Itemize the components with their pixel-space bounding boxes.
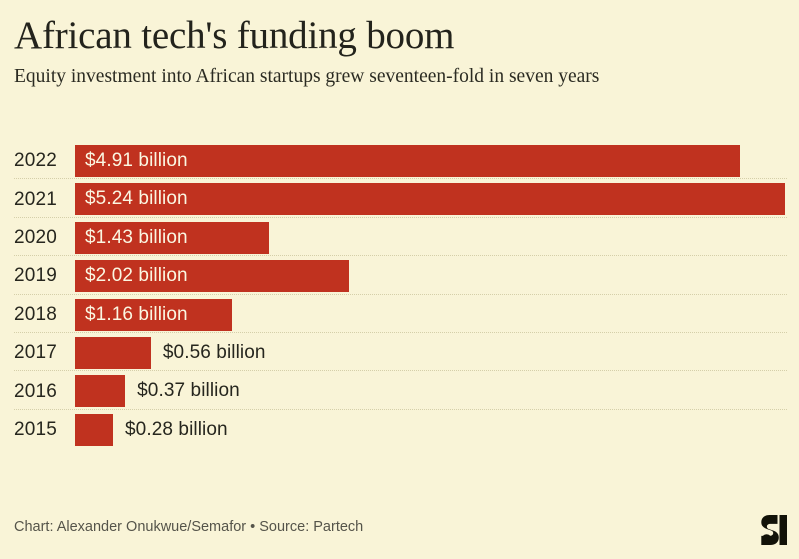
page-title: African tech's funding boom (14, 14, 781, 58)
bar-year-label: 2015 (14, 419, 57, 441)
bar-chart-plot: 2022$4.91 billion2021$5.24 billion2020$1… (0, 142, 799, 449)
bar-value-label: $0.37 billion (137, 380, 240, 402)
bar-track: $2.02 billion (75, 260, 799, 292)
bar[interactable]: $2.02 billion (75, 260, 349, 292)
bar-year-label: 2021 (14, 189, 57, 211)
source-credit: Chart: Alexander Onukwue/Semafor • Sourc… (14, 519, 363, 535)
bar-value-label: $0.56 billion (163, 342, 266, 364)
bar-track: $1.16 billion (75, 299, 799, 331)
bar-row: 2019$2.02 billion (0, 257, 799, 295)
bar-track: $1.43 billion (75, 222, 799, 254)
bar-value-label: $5.24 billion (85, 188, 188, 210)
bar-track: $4.91 billion (75, 145, 799, 177)
bar-year-label: 2022 (14, 150, 57, 172)
bar-value-label: $1.43 billion (85, 227, 188, 249)
bar-value-label: $4.91 billion (85, 150, 188, 172)
bar-row: 2020$1.43 billion (0, 219, 799, 257)
bar-year-label: 2016 (14, 381, 57, 403)
bar-track: $0.37 billion (75, 375, 799, 407)
chart-header: African tech's funding boom Equity inves… (0, 0, 799, 90)
bar-track: $0.56 billion (75, 337, 799, 369)
bar-value-label: $0.28 billion (125, 419, 228, 441)
bar-value-label: $2.02 billion (85, 265, 188, 287)
bar-value-label: $1.16 billion (85, 304, 188, 326)
bar-row: 2018$1.16 billion (0, 296, 799, 334)
chart-footer: Chart: Alexander Onukwue/Semafor • Sourc… (0, 501, 799, 559)
chart-subtitle: Equity investment into African startups … (14, 64, 774, 90)
bar[interactable] (75, 337, 151, 369)
bar[interactable]: $5.24 billion (75, 183, 785, 215)
chart-container: African tech's funding boom Equity inves… (0, 0, 799, 559)
bar-row: 2015$0.28 billion (0, 411, 799, 449)
bar-year-label: 2019 (14, 265, 57, 287)
bar[interactable]: $1.43 billion (75, 222, 269, 254)
bar-year-label: 2018 (14, 304, 57, 326)
bar-year-label: 2017 (14, 342, 57, 364)
bar[interactable] (75, 375, 125, 407)
bar[interactable]: $1.16 billion (75, 299, 232, 331)
bar-track: $5.24 billion (75, 183, 799, 215)
semafor-logo (761, 515, 787, 545)
bar-track: $0.28 billion (75, 414, 799, 446)
bar-row: 2022$4.91 billion (0, 142, 799, 180)
bar-row: 2017$0.56 billion (0, 334, 799, 372)
bar-row: 2021$5.24 billion (0, 180, 799, 218)
bar-row: 2016$0.37 billion (0, 372, 799, 410)
bar[interactable]: $4.91 billion (75, 145, 740, 177)
bar[interactable] (75, 414, 113, 446)
bar-year-label: 2020 (14, 227, 57, 249)
